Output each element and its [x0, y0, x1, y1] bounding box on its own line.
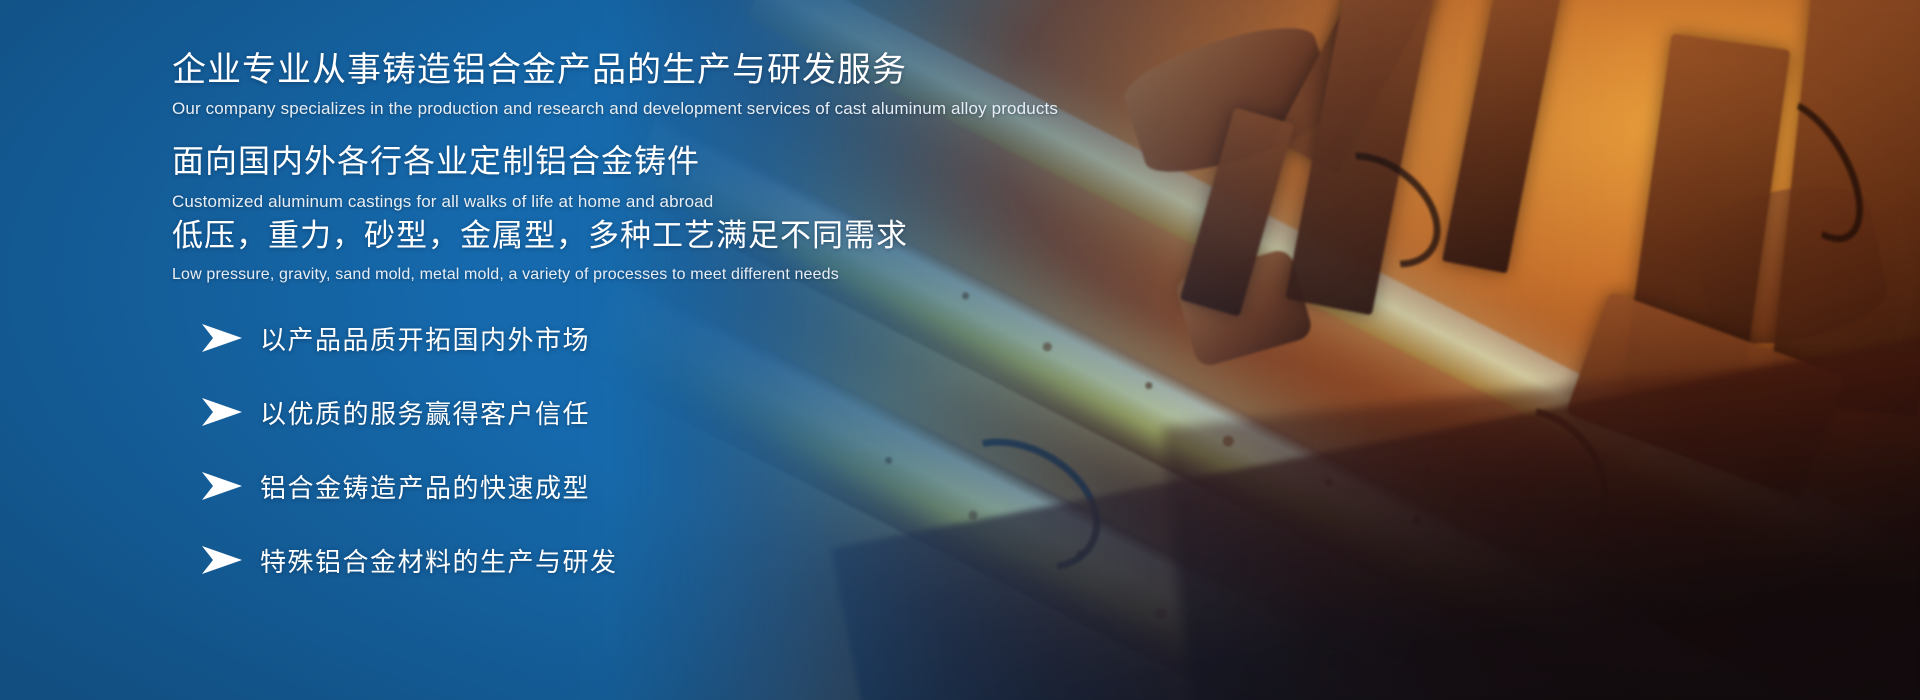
list-item-label: 特殊铝合金材料的生产与研发: [260, 542, 618, 579]
list-item-label: 以产品品质开拓国内外市场: [260, 320, 590, 357]
heading-1-english: Our company specializes in the productio…: [172, 97, 1058, 121]
heading-2-chinese: 面向国内外各行各业定制铝合金铸件: [172, 140, 713, 182]
feature-bullet-list: 以产品品质开拓国内外市场 以优质的服务赢得客户信任 铝合金铸造产品的快速成型 特…: [200, 312, 618, 608]
list-item[interactable]: 特殊铝合金材料的生产与研发: [200, 534, 618, 586]
arrow-right-icon: [200, 396, 244, 428]
heading-block-1: 企业专业从事铸造铝合金产品的生产与研发服务 Our company specia…: [172, 49, 1058, 121]
heading-3-chinese: 低压，重力，砂型，金属型，多种工艺满足不同需求: [172, 215, 908, 257]
arrow-right-icon: [200, 322, 244, 354]
heading-1-chinese: 企业专业从事铸造铝合金产品的生产与研发服务: [172, 49, 1058, 91]
list-item-label: 铝合金铸造产品的快速成型: [260, 468, 590, 505]
list-item[interactable]: 以优质的服务赢得客户信任: [200, 386, 618, 438]
heading-3-english: Low pressure, gravity, sand mold, metal …: [172, 263, 908, 287]
list-item[interactable]: 铝合金铸造产品的快速成型: [200, 460, 618, 512]
list-item[interactable]: 以产品品质开拓国内外市场: [200, 312, 618, 364]
arrow-right-icon: [200, 470, 244, 502]
arrow-right-icon: [200, 544, 244, 576]
heading-2-english: Customized aluminum castings for all wal…: [172, 190, 713, 214]
hero-banner: 企业专业从事铸造铝合金产品的生产与研发服务 Our company specia…: [0, 0, 1920, 700]
list-item-label: 以优质的服务赢得客户信任: [260, 394, 590, 431]
banner-content: 企业专业从事铸造铝合金产品的生产与研发服务 Our company specia…: [172, 0, 1272, 700]
heading-block-3: 低压，重力，砂型，金属型，多种工艺满足不同需求 Low pressure, gr…: [172, 215, 908, 287]
heading-block-2: 面向国内外各行各业定制铝合金铸件 Customized aluminum cas…: [172, 140, 713, 214]
